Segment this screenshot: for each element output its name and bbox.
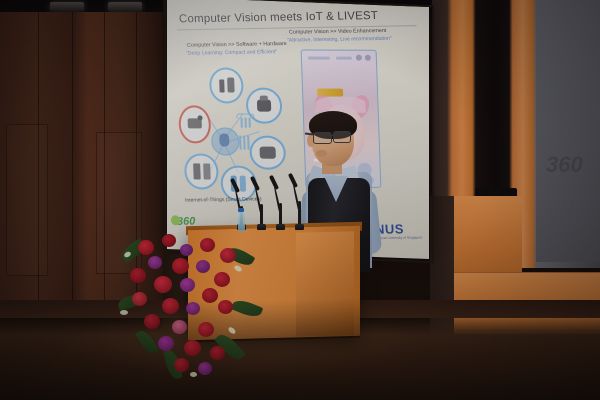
wall-door [6,124,48,276]
wood-cabinet [452,196,522,274]
speaker-glasses [333,131,351,143]
ceiling-light [50,2,84,11]
microphone [271,175,291,230]
presentation-photo: 360 Computer Vision meets IoT & LIVEST C… [0,0,600,400]
water-bottle [238,212,245,232]
flower-arrangement [118,232,264,380]
microphone [290,173,310,230]
bottle-cap [238,208,244,212]
microphone [252,176,272,230]
speaker-glasses [313,132,332,144]
right-gray-panel: 360 [536,0,600,262]
wall-logo-360: 360 [546,150,596,180]
ceiling-light [108,2,142,11]
